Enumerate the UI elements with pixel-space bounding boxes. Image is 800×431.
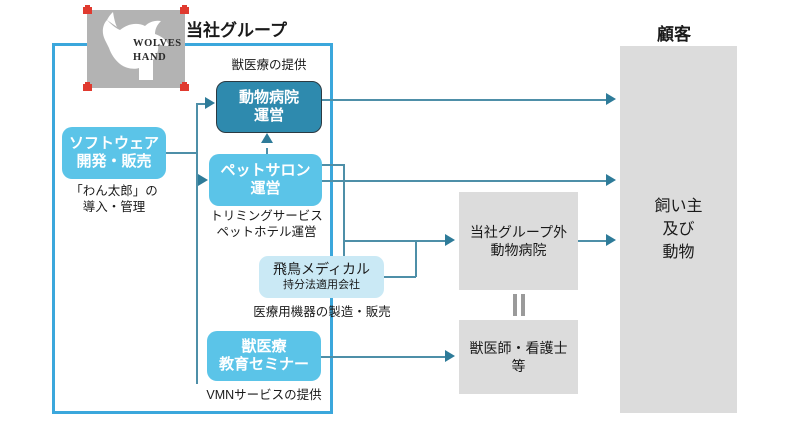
equals-connector-icon: [512, 294, 526, 316]
arrow-salon-to-hospital: [261, 133, 273, 143]
caption-software-line1: 「わん太郎」の: [62, 184, 166, 200]
arrow-to-hospital: [205, 97, 215, 109]
box-software-line1: ソフトウェア: [62, 135, 166, 153]
line-software-out: [166, 152, 197, 154]
box-veterinary-seminar[interactable]: 獣医療 教育セミナー: [207, 331, 321, 381]
box-pet-salon[interactable]: ペットサロン 運営: [209, 154, 322, 206]
line-external-to-customers: [578, 240, 608, 242]
logo-handle-bottom-left: [83, 84, 92, 91]
caption-hospital: 獣医療の提供: [216, 58, 322, 74]
box-asuka-medical-subtitle: 持分法適用会社: [283, 279, 360, 292]
box-customers-line2: 及び: [654, 218, 702, 241]
caption-salon-line2: ペットホテル運営: [194, 225, 339, 241]
box-external-animal-hospital-line1: 当社グループ外: [470, 223, 567, 241]
line-salon-to-customers: [322, 180, 608, 182]
box-customers-line3: 動物: [654, 241, 702, 264]
box-animal-hospital[interactable]: 動物病院 運営: [216, 81, 322, 133]
box-animal-hospital-line2: 運営: [217, 107, 321, 125]
diagram-canvas: 当社グループ 顧客 WOLVES HAND: [0, 0, 800, 431]
arrow-salon-to-customers: [606, 174, 616, 186]
arrow-external-to-customers: [606, 234, 616, 246]
logo-text-line2: HAND: [133, 51, 185, 65]
box-external-animal-hospital-line2: 動物病院: [470, 241, 567, 259]
box-veterinary-seminar-line2: 教育セミナー: [207, 356, 321, 374]
box-pet-salon-line1: ペットサロン: [209, 162, 322, 180]
caption-software-line2: 導入・管理: [62, 200, 166, 216]
line-asuka-riser: [415, 240, 417, 277]
box-veterinary-seminar-line1: 獣医療: [207, 338, 321, 356]
caption-seminar: VMNサービスの提供: [193, 388, 335, 404]
logo-handle-top-right: [180, 7, 189, 14]
box-software-line2: 開発・販売: [62, 153, 166, 171]
box-customers-line1: 飼い主: [654, 195, 702, 218]
arrow-seminar-to-vets: [445, 350, 455, 362]
logo-text-line1: WOLVES: [133, 37, 185, 51]
line-hospital-to-customers: [322, 99, 608, 101]
box-veterinarians-nurses-line2: 等: [470, 357, 568, 375]
caption-asuka: 医療用機器の製造・販売: [237, 305, 407, 321]
wolves-hand-logo: WOLVES HAND: [87, 10, 185, 88]
box-veterinarians-nurses[interactable]: 獣医師・看護士 等: [459, 320, 578, 394]
line-asuka-branch-left: [343, 164, 345, 261]
line-seminar-to-vets: [321, 356, 447, 358]
logo-handle-top-left: [83, 7, 92, 14]
arrow-hospital-to-customers: [606, 93, 616, 105]
box-external-animal-hospital[interactable]: 当社グループ外 動物病院: [459, 192, 578, 290]
line-to-external-hospital: [343, 240, 447, 242]
box-animal-hospital-line1: 動物病院: [217, 89, 321, 107]
caption-salon-line1: トリミングサービス: [194, 209, 339, 225]
line-trunk-bottom: [196, 382, 198, 384]
box-asuka-medical[interactable]: 飛鳥メディカル 持分法適用会社: [259, 256, 384, 298]
box-asuka-medical-name: 飛鳥メディカル: [273, 262, 370, 277]
box-veterinarians-nurses-line1: 獣医師・看護士: [470, 339, 568, 357]
box-software[interactable]: ソフトウェア 開発・販売: [62, 127, 166, 179]
customers-heading: 顧客: [657, 20, 691, 45]
arrow-to-salon: [198, 174, 208, 186]
arrow-to-external-hospital: [445, 234, 455, 246]
box-customers[interactable]: 飼い主 及び 動物: [620, 46, 737, 413]
line-software-trunk: [196, 103, 198, 383]
line-asuka-out: [384, 276, 416, 278]
logo-handle-bottom-right: [180, 84, 189, 91]
group-heading: 当社グループ: [186, 16, 287, 41]
box-pet-salon-line2: 運営: [209, 180, 322, 198]
